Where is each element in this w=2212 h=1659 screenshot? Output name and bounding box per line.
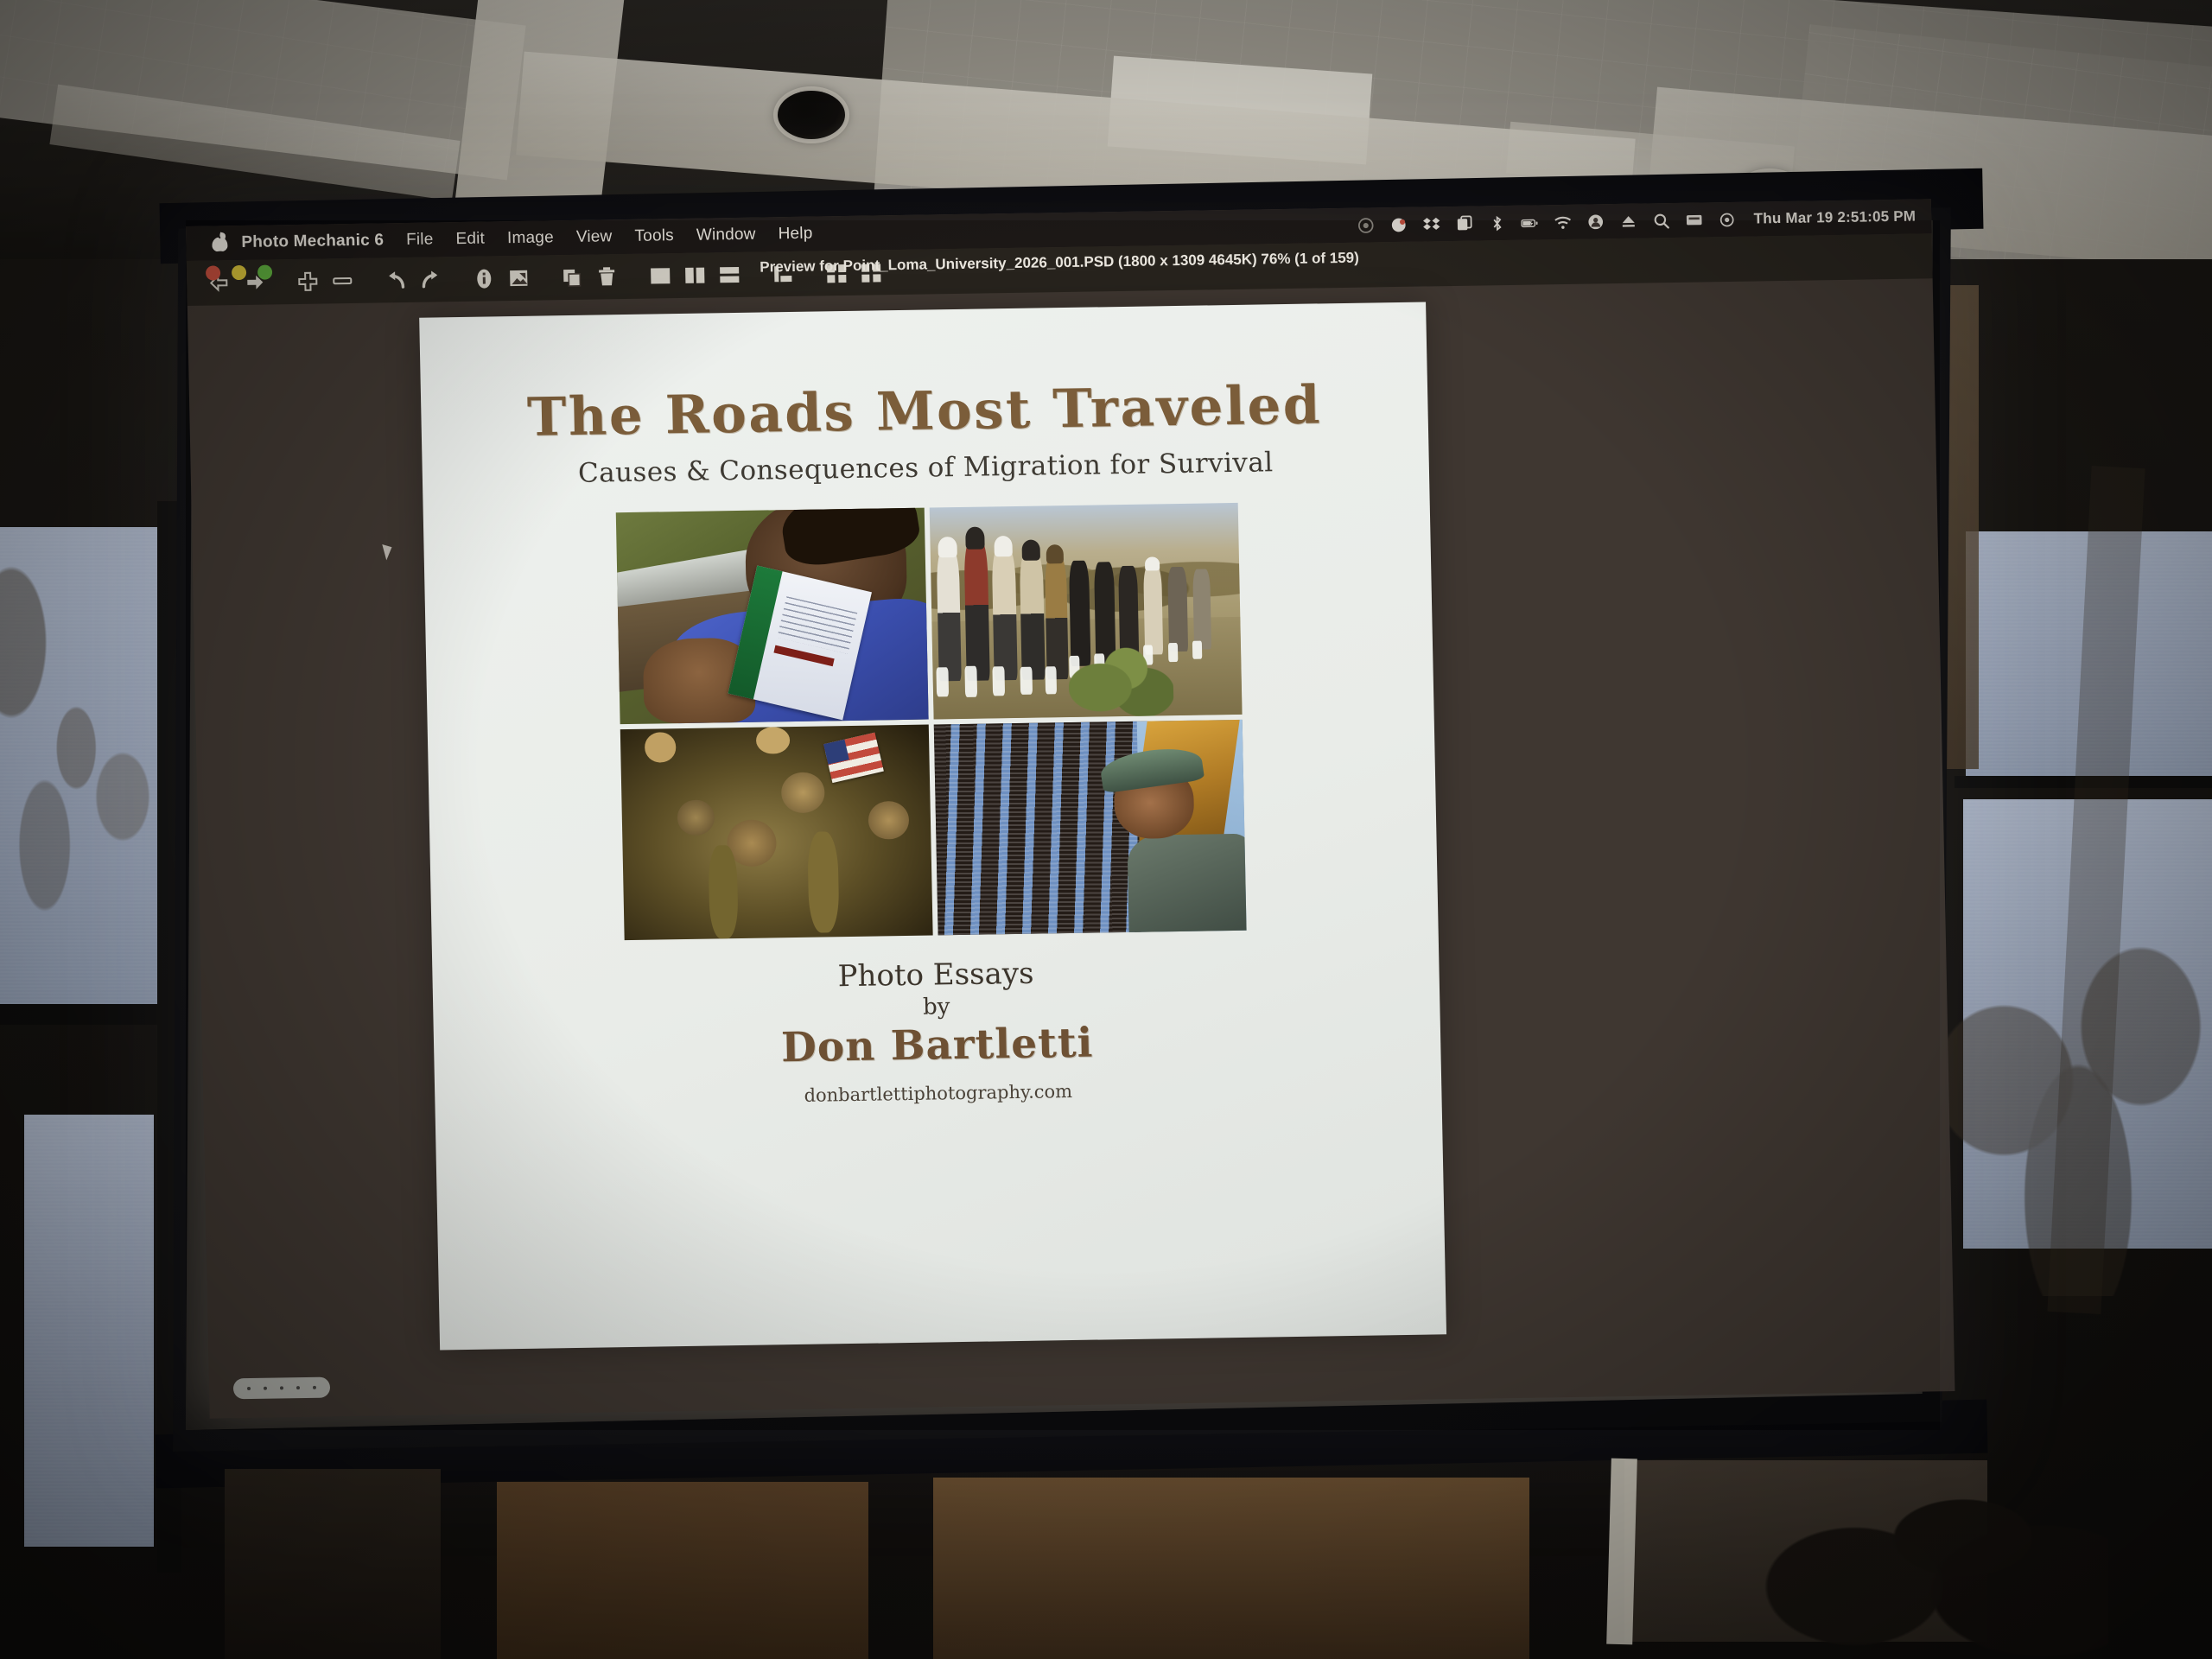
- sleep-prevent-icon[interactable]: [1389, 215, 1408, 233]
- credits-photo-essays: Photo Essays: [779, 956, 1092, 995]
- two-up-view-icon[interactable]: [677, 257, 713, 293]
- split-view-icon[interactable]: [712, 257, 747, 293]
- fit-to-window-icon[interactable]: [819, 256, 855, 291]
- fullscreen-icon[interactable]: [854, 255, 889, 290]
- photo2-cactus: [1067, 631, 1174, 719]
- slide-credits: Photo Essays by Don Bartletti donbartlet…: [779, 956, 1095, 1107]
- bluetooth-icon[interactable]: [1488, 214, 1506, 232]
- copy-icon[interactable]: [555, 260, 590, 296]
- single-view-icon[interactable]: [643, 258, 678, 294]
- minimize-button[interactable]: [232, 265, 246, 280]
- photo3-face: [677, 799, 715, 836]
- rotate-right-icon[interactable]: [413, 262, 448, 297]
- projected-desktop: Photo Mechanic 6 File Edit Image View To…: [186, 199, 1955, 1418]
- photo-grid: [615, 503, 1246, 940]
- menu-bar-status-area[interactable]: Thu Mar 19 2:51:05 PM: [1357, 207, 1925, 234]
- photo2-migrant: [936, 550, 962, 681]
- photo2-migrant: [992, 549, 1018, 680]
- close-button[interactable]: [206, 265, 220, 280]
- toolbar-button-group[interactable]: [187, 255, 889, 301]
- control-center-icon[interactable]: [1718, 210, 1736, 228]
- conference-room: Photo Mechanic 6 File Edit Image View To…: [0, 0, 2212, 1659]
- slide-canvas[interactable]: The Roads Most Traveled Causes & Consequ…: [419, 302, 1446, 1350]
- photo2-migrant: [963, 541, 989, 681]
- sign-edge-strip: [1606, 1459, 1637, 1645]
- credits-by: by: [780, 992, 1093, 1023]
- photo4-man-body: [1127, 833, 1246, 935]
- slide-subtitle: Causes & Consequences of Migration for S…: [578, 447, 1274, 489]
- photo1-form-lines: [777, 597, 857, 654]
- edit-photo-icon[interactable]: [501, 261, 537, 296]
- photo2-migrant: [1192, 569, 1211, 649]
- slide-title: The Roads Most Traveled: [526, 374, 1322, 448]
- credits-author-name: Don Bartletti: [780, 1020, 1093, 1072]
- menu-edit[interactable]: Edit: [455, 230, 485, 250]
- photo3-raised-arm: [709, 845, 738, 938]
- menu-view[interactable]: View: [576, 227, 613, 247]
- projection-screen-assembly: Photo Mechanic 6 File Edit Image View To…: [0, 0, 2212, 1659]
- photo3-raised-arm: [807, 831, 840, 933]
- photo3-face: [868, 800, 909, 839]
- photo2-migrant: [1044, 556, 1068, 679]
- wood-door-panel-left: [497, 1482, 868, 1659]
- menu-file[interactable]: File: [406, 231, 434, 250]
- mouse-cursor: [382, 542, 395, 560]
- photo-man-at-border-fence: [933, 719, 1246, 935]
- wood-door-panel-right: [933, 1478, 1529, 1659]
- mini-dock-indicator[interactable]: [233, 1377, 330, 1400]
- window-traffic-lights[interactable]: [206, 264, 272, 280]
- photo3-face: [781, 772, 825, 813]
- battery-charging-icon[interactable]: [1521, 213, 1539, 232]
- menu-image[interactable]: Image: [507, 228, 554, 248]
- apple-logo-icon[interactable]: [210, 232, 229, 253]
- menu-app-name[interactable]: Photo Mechanic 6: [241, 231, 384, 252]
- dropbox-icon[interactable]: [1422, 215, 1440, 233]
- align-icon[interactable]: [766, 257, 801, 292]
- display-icon[interactable]: [1685, 211, 1703, 229]
- potted-palm-silhouette: [1745, 1417, 2108, 1659]
- photo-woman-with-mexico-express-form: [615, 508, 928, 724]
- photo-migrants-walking-with-water-jugs: [929, 503, 1242, 719]
- photo3-raised-hand: [755, 727, 790, 754]
- photo3-raised-hand: [645, 733, 676, 763]
- zoom-out-icon[interactable]: [325, 264, 360, 299]
- file-sync-icon[interactable]: [1455, 214, 1473, 232]
- menu-tools[interactable]: Tools: [634, 226, 674, 246]
- photo-celebrating-crowd-with-us-flag: [620, 724, 932, 940]
- wooden-podium: [225, 1469, 441, 1659]
- menu-window[interactable]: Window: [696, 226, 756, 245]
- eject-icon[interactable]: [1619, 212, 1637, 230]
- menu-help[interactable]: Help: [778, 225, 812, 245]
- photo4-fence-mesh: [933, 721, 1141, 935]
- user-account-icon[interactable]: [1586, 213, 1605, 231]
- rotate-left-icon[interactable]: [378, 263, 414, 298]
- info-icon[interactable]: [467, 261, 502, 296]
- wifi-icon[interactable]: [1554, 213, 1572, 231]
- zoom-in-icon[interactable]: [290, 264, 326, 299]
- spotlight-search-icon[interactable]: [1652, 212, 1670, 230]
- screen-record-icon[interactable]: [1357, 216, 1375, 234]
- trash-icon[interactable]: [589, 259, 625, 295]
- macos-desktop: Photo Mechanic 6 File Edit Image View To…: [186, 199, 1955, 1418]
- photo3-us-flag: [823, 733, 884, 784]
- credits-website: donbartlettiphotography.com: [782, 1081, 1095, 1107]
- menu-bar-clock[interactable]: Thu Mar 19 2:51:05 PM: [1754, 208, 1916, 228]
- zoom-button[interactable]: [257, 264, 272, 279]
- photo2-migrant: [1020, 552, 1046, 679]
